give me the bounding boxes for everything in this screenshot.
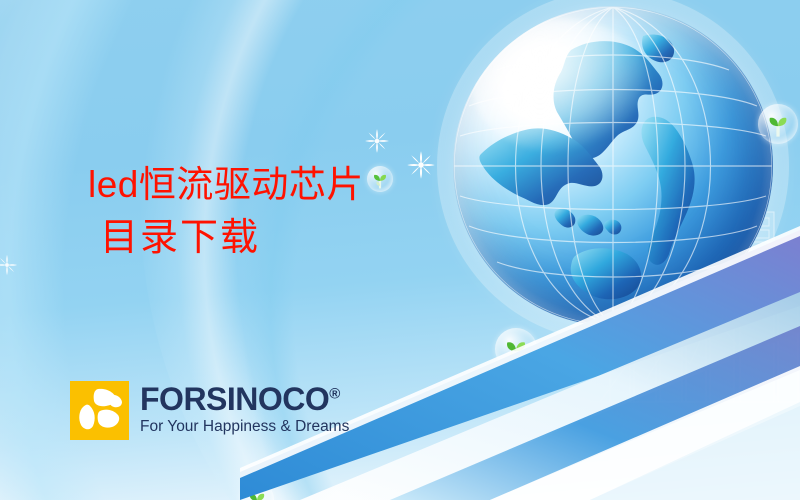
page-title: led恒流驱动芯片 目录下载 — [88, 166, 364, 257]
logo-tagline: For Your Happiness & Dreams — [140, 418, 349, 435]
earth-globe-icon — [453, 6, 773, 326]
eco-bubble-sprout-icon — [495, 328, 537, 370]
logo-company-name: FORSINOCO® — [140, 383, 349, 415]
headline-line-2: 目录下载 — [100, 219, 364, 257]
city-skyline-icon — [590, 194, 800, 404]
logo-name-text: FORSINOCO — [140, 381, 329, 417]
sparkle-star-icon — [0, 254, 18, 276]
headline-line-1: led恒流驱动芯片 — [88, 166, 364, 203]
promo-banner: led恒流驱动芯片 目录下载 FORSINOCO® For Your Happi… — [0, 0, 800, 500]
sparkle-star-icon — [406, 150, 436, 180]
four-petal-pinwheel-icon — [70, 381, 129, 440]
sparkle-star-icon — [364, 128, 390, 154]
eco-bubble-sprout-icon — [758, 104, 798, 144]
eco-bubble-sprout-icon — [367, 166, 393, 192]
registered-trademark-icon: ® — [329, 385, 340, 402]
eco-bubble-sprout-icon — [240, 482, 274, 500]
swoosh-arc-icon — [430, 0, 800, 500]
swoosh-arc-icon — [380, 0, 800, 500]
company-logo: FORSINOCO® For Your Happiness & Dreams — [70, 381, 349, 440]
